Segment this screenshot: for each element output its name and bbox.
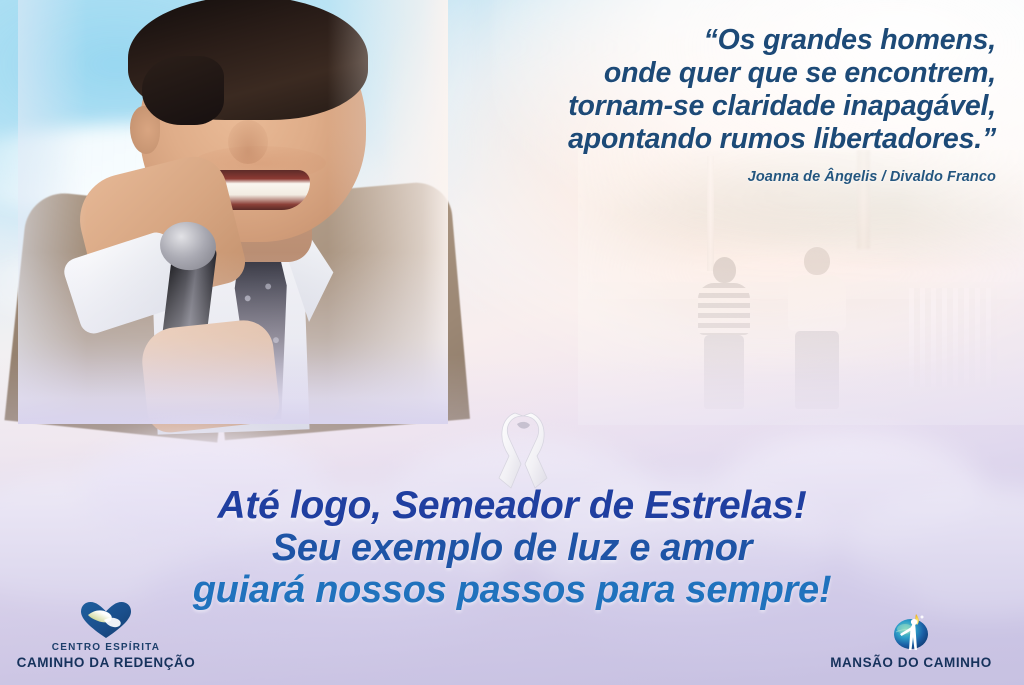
logo-centro-espirita: CENTRO ESPÍRITA CAMINHO DA REDENÇÃO [8, 601, 204, 671]
logo-mansao-do-caminho: MANSÃO DO CAMINHO [806, 610, 1016, 671]
message-line-2: Seu exemplo de luz e amor [0, 529, 1024, 568]
heart-hands-icon [80, 601, 132, 639]
message-line-1: Até logo, Semeador de Estrelas! [0, 486, 1024, 526]
white-ribbon-icon [487, 408, 559, 492]
tribute-message: Até logo, Semeador de Estrelas! Seu exem… [0, 486, 1024, 609]
quote-attribution: Joanna de Ângelis / Divaldo Franco [430, 169, 996, 185]
memorial-poster: “Os grandes homens, onde quer que se enc… [0, 0, 1024, 685]
logo-right-line-1: MANSÃO DO CAMINHO [806, 655, 1016, 671]
quote-line-1: “Os grandes homens, [430, 24, 996, 57]
globe-figure-flame-icon [886, 610, 936, 652]
quote-line-4: apontando rumos libertadores.” [430, 123, 996, 156]
quote-block: “Os grandes homens, onde quer que se enc… [430, 24, 996, 185]
quote-line-3: tornam-se claridade inapagável, [430, 90, 996, 123]
quote-line-2: onde quer que se encontrem, [430, 57, 996, 90]
logo-left-line-1: CENTRO ESPÍRITA [8, 642, 204, 655]
logo-left-line-2: CAMINHO DA REDENÇÃO [8, 655, 204, 671]
